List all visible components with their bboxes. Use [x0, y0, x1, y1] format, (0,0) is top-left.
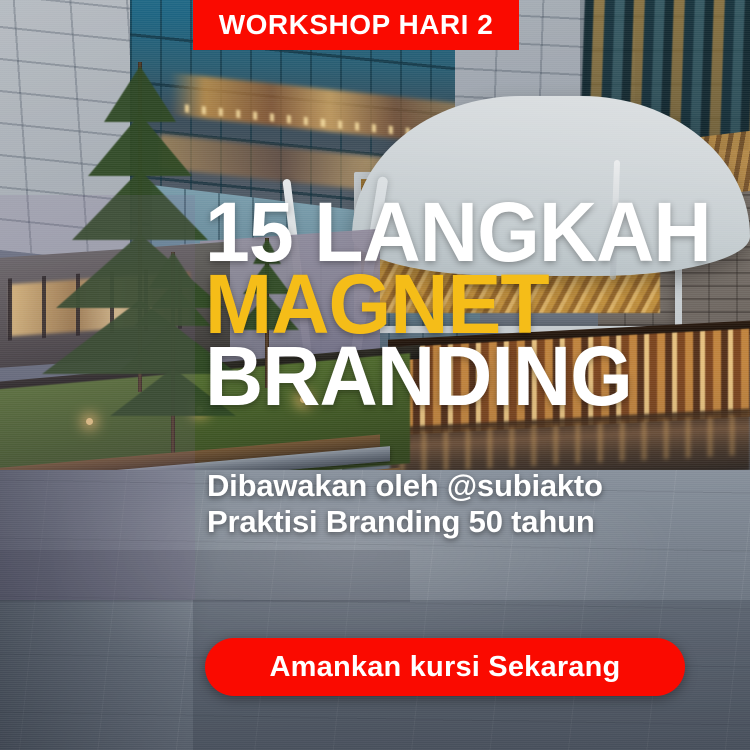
subtitle-block: Dibawakan oleh @subiakto Praktisi Brandi…: [207, 468, 750, 539]
subtitle-presenter: Dibawakan oleh @subiakto: [207, 468, 750, 504]
subtitle-credentials: Praktisi Branding 50 tahun: [207, 504, 750, 540]
workshop-day-badge-label: WORKSHOP HARI 2: [219, 11, 494, 39]
reserve-seat-button-label: Amankan kursi Sekarang: [270, 653, 621, 682]
reserve-seat-button[interactable]: Amankan kursi Sekarang: [205, 638, 685, 696]
workshop-day-badge: WORKSHOP HARI 2: [193, 0, 519, 50]
promo-poster: WORKSHOP HARI 2 15 LANGKAH MAGNET BRANDI…: [0, 0, 750, 750]
poster-content: WORKSHOP HARI 2 15 LANGKAH MAGNET BRANDI…: [0, 0, 750, 750]
headline-line-3-branding: BRANDING: [205, 340, 728, 412]
headline-block: 15 LANGKAH MAGNET BRANDING: [205, 196, 750, 413]
